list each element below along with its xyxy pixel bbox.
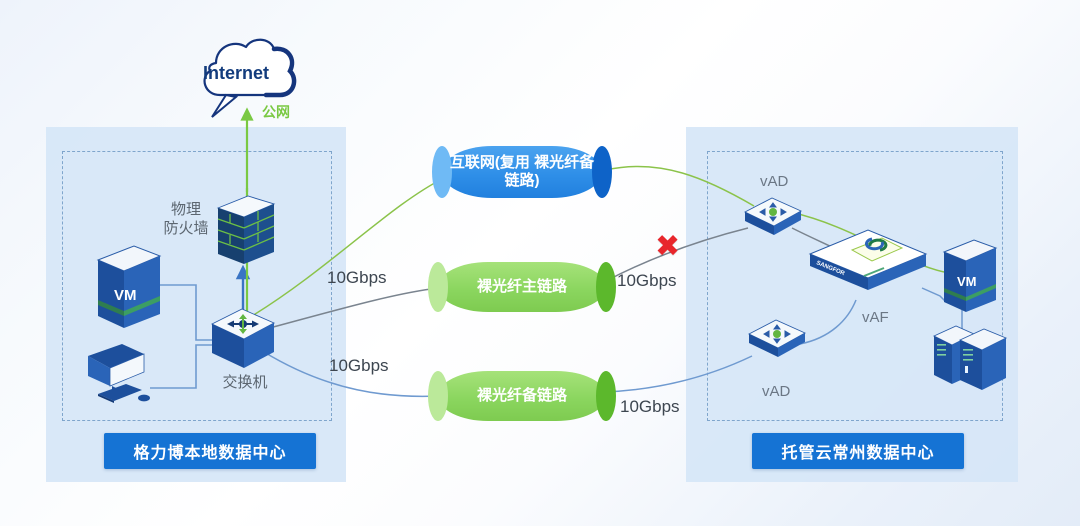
svg-text:VM: VM [114, 287, 137, 304]
vaf-appliance-icon: SANGFOR [806, 228, 930, 300]
bandwidth-label-primary-right: 10Gbps [617, 270, 677, 291]
cylinder-right-cap [596, 371, 616, 421]
physical-firewall-label: 物理 防火墙 [155, 201, 217, 239]
right-vm-box-icon: VM [936, 238, 1002, 320]
right-datacenter-badge[interactable]: 托管云常州数据中心 [752, 433, 964, 469]
diagram-canvas: Internet 公网 VM [0, 0, 1080, 526]
fiber-primary-link-cylinder[interactable]: 裸光纤主链路 [438, 262, 606, 312]
bandwidth-label-primary-left: 10Gbps [327, 267, 387, 288]
left-switch-label: 交换机 [210, 374, 280, 393]
public-network-label: 公网 [262, 104, 290, 122]
left-datacenter-badge-label: 格力博本地数据中心 [133, 439, 286, 463]
vaf-appliance-label: vAF [862, 309, 889, 328]
cylinder-left-cap [428, 262, 448, 312]
fiber-backup-link-label: 裸光纤备链路 [471, 387, 573, 405]
right-vad-top-label: vAD [760, 173, 788, 192]
fiber-primary-link-label: 裸光纤主链路 [471, 278, 573, 296]
left-desktop-pc-icon [82, 338, 168, 404]
right-datacenter-badge-label: 托管云常州数据中心 [781, 439, 934, 463]
right-vad-bottom-icon [746, 318, 808, 364]
svg-text:VM: VM [957, 274, 977, 289]
internet-backup-link-label: 互联网(复用 裸光纤备链路) [442, 154, 602, 190]
right-vad-bottom-label: vAD [762, 383, 790, 402]
bandwidth-label-backup-left: 10Gbps [329, 355, 389, 376]
link-fault-marker: ✖ [655, 232, 680, 262]
left-vm-box-icon: VM [88, 244, 166, 336]
left-switch-icon [208, 306, 280, 372]
internet-cloud-label: Internet [203, 62, 269, 85]
fiber-backup-link-cylinder[interactable]: 裸光纤备链路 [438, 371, 606, 421]
right-server-stack-icon [930, 322, 1012, 394]
left-datacenter-badge[interactable]: 格力博本地数据中心 [104, 433, 316, 469]
bandwidth-label-backup-right: 10Gbps [620, 396, 680, 417]
right-vad-top-icon [742, 196, 804, 242]
internet-backup-link-cylinder[interactable]: 互联网(复用 裸光纤备链路) [442, 146, 602, 198]
physical-firewall-icon [214, 194, 278, 272]
cylinder-right-cap [596, 262, 616, 312]
cylinder-left-cap [428, 371, 448, 421]
